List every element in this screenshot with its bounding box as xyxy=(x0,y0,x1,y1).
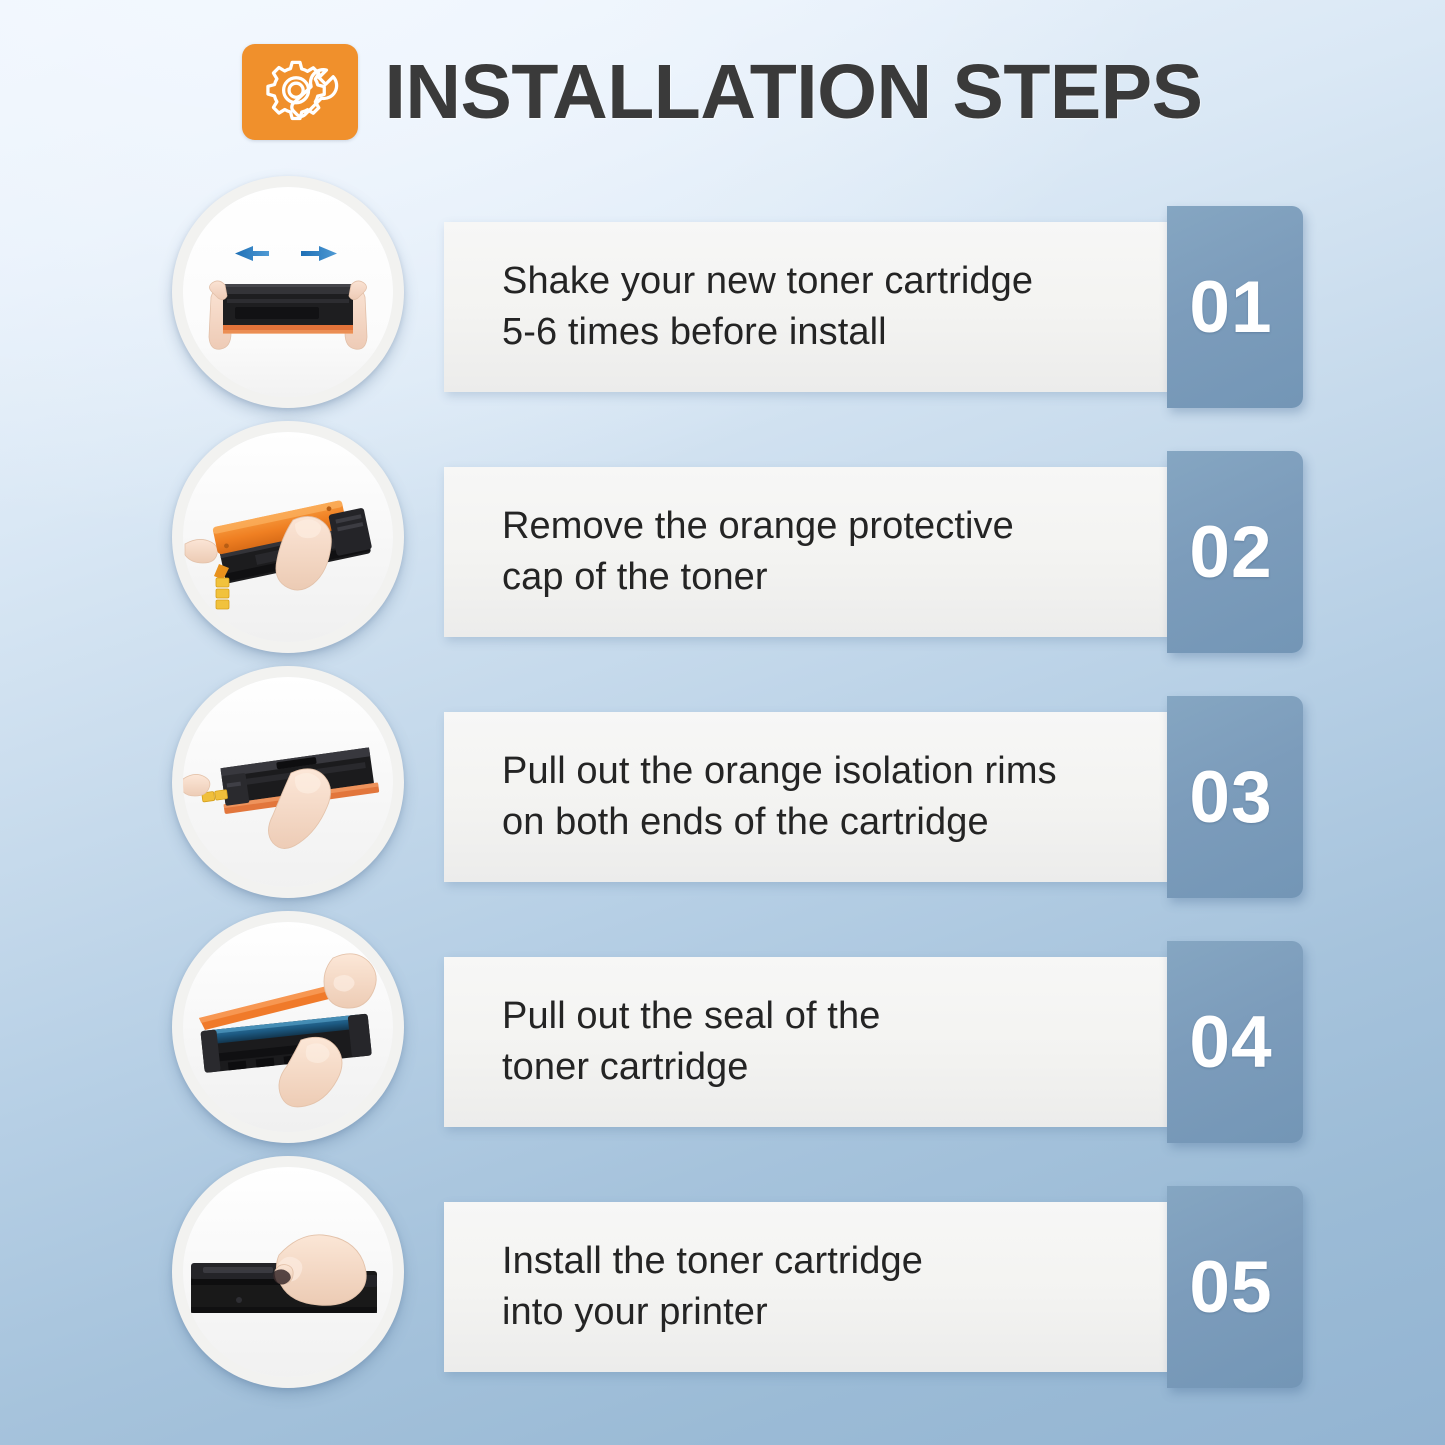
step-image-shake-toner xyxy=(172,176,404,408)
step-line-1: Pull out the orange isolation rims xyxy=(502,750,1057,792)
circle-photo xyxy=(183,922,393,1132)
step-number: 03 xyxy=(1189,756,1272,839)
step-image-pull-isolation-rims xyxy=(172,666,404,898)
step-description: Install the toner cartridge into your pr… xyxy=(502,1236,923,1338)
step-description: Remove the orange protective cap of the … xyxy=(502,501,1014,603)
step-line-1: Shake your new toner cartridge xyxy=(502,260,1033,302)
circle-photo xyxy=(183,1167,393,1377)
circle-photo xyxy=(183,187,393,397)
step-line-1: Install the toner cartridge xyxy=(502,1240,923,1282)
step-card: Shake your new toner cartridge 5-6 times… xyxy=(444,222,1170,392)
step-line-2: into your printer xyxy=(502,1287,923,1338)
step-number: 02 xyxy=(1189,511,1272,594)
step-row: Remove the orange protective cap of the … xyxy=(0,415,1445,660)
circle-photo xyxy=(183,432,393,642)
step-card: Remove the orange protective cap of the … xyxy=(444,467,1170,637)
step-line-2: cap of the toner xyxy=(502,552,1014,603)
step-description: Pull out the seal of the toner cartridge xyxy=(502,991,880,1093)
step-line-2: 5-6 times before install xyxy=(502,307,1033,358)
circle-photo xyxy=(183,677,393,887)
steps-list: Shake your new toner cartridge 5-6 times… xyxy=(0,170,1445,1395)
step-image-pull-seal xyxy=(172,911,404,1143)
step-number-badge: 04 xyxy=(1167,941,1303,1143)
gear-wrench-icon xyxy=(242,44,358,140)
step-line-1: Remove the orange protective xyxy=(502,505,1014,547)
step-description: Shake your new toner cartridge 5-6 times… xyxy=(502,256,1033,358)
installation-steps-poster: INSTALLATION STEPS xyxy=(0,0,1445,1445)
step-line-2: on both ends of the cartridge xyxy=(502,797,1057,848)
step-line-1: Pull out the seal of the xyxy=(502,995,880,1037)
step-card: Pull out the orange isolation rims on bo… xyxy=(444,712,1170,882)
step-number-badge: 02 xyxy=(1167,451,1303,653)
step-number: 04 xyxy=(1189,1001,1272,1084)
step-description: Pull out the orange isolation rims on bo… xyxy=(502,746,1057,848)
step-card: Pull out the seal of the toner cartridge xyxy=(444,957,1170,1127)
step-line-2: toner cartridge xyxy=(502,1042,880,1093)
step-number-badge: 01 xyxy=(1167,206,1303,408)
step-row: Pull out the orange isolation rims on bo… xyxy=(0,660,1445,905)
step-image-remove-cap xyxy=(172,421,404,653)
step-image-install-cartridge xyxy=(172,1156,404,1388)
page-title: INSTALLATION STEPS xyxy=(384,48,1202,137)
step-number-badge: 03 xyxy=(1167,696,1303,898)
step-number: 01 xyxy=(1189,266,1272,349)
step-number-badge: 05 xyxy=(1167,1186,1303,1388)
step-row: Pull out the seal of the toner cartridge… xyxy=(0,905,1445,1150)
step-card: Install the toner cartridge into your pr… xyxy=(444,1202,1170,1372)
step-number: 05 xyxy=(1189,1246,1272,1329)
step-row: Shake your new toner cartridge 5-6 times… xyxy=(0,170,1445,415)
poster-header: INSTALLATION STEPS xyxy=(0,44,1445,140)
step-row: Install the toner cartridge into your pr… xyxy=(0,1150,1445,1395)
